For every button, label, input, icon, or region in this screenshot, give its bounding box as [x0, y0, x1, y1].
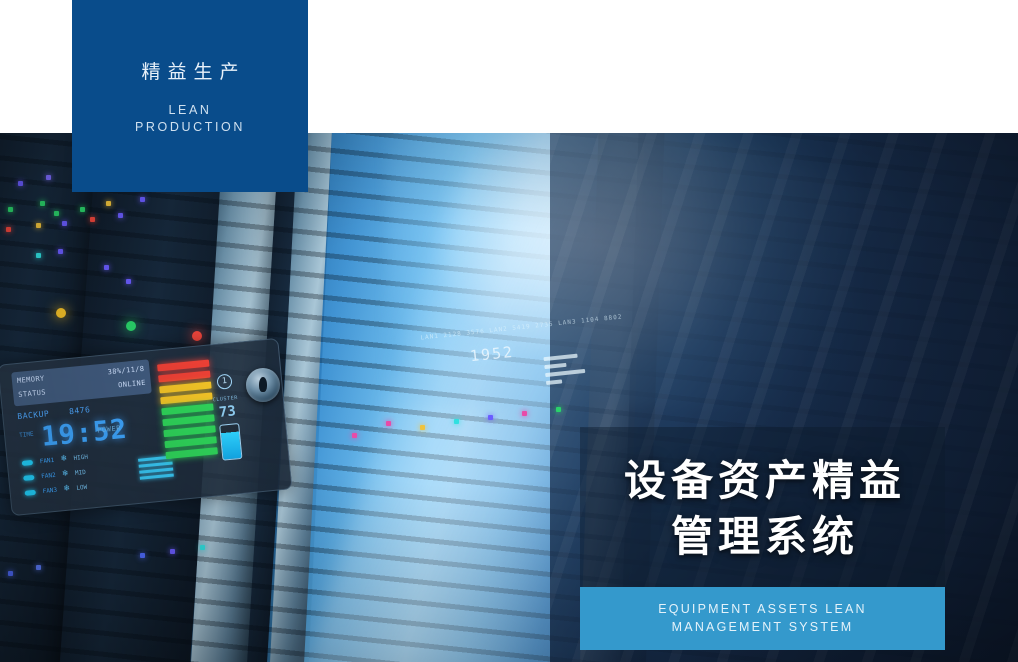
brand-title-en-line1: LEAN	[135, 102, 245, 119]
clock-display: 19:52	[40, 414, 129, 453]
fan-indicator-icon	[23, 475, 34, 481]
main-heading-line1: 设备资产精益	[580, 453, 945, 509]
cluster-index-badge: 1	[216, 373, 232, 389]
fan-name: FAN1	[39, 453, 55, 469]
time-label: TIME	[19, 431, 34, 439]
brand-title-cn: 精益生产	[134, 57, 245, 84]
fan-indicator-icon	[25, 490, 36, 496]
fan-name: FAN2	[41, 468, 57, 484]
fan-blade-icon: ❄	[62, 467, 69, 482]
brand-title-en-line2: PRODUCTION	[135, 119, 245, 136]
lcd-status-value: ONLINE	[118, 376, 147, 393]
lcd-status-label: STATUS	[18, 385, 47, 402]
cluster-label: CLUSTER	[212, 395, 238, 403]
rack-door-lock-icon	[246, 368, 280, 402]
title-panel: 设备资产精益 管理系统 EQUIPMENT ASSETS LEAN MANAGE…	[580, 427, 945, 650]
fan-blade-icon: ❄	[63, 482, 70, 497]
slide-root: MEMORY 38%/11/8 STATUS ONLINE BACKUP 847…	[0, 0, 1018, 662]
server-control-panel: MEMORY 38%/11/8 STATUS ONLINE BACKUP 847…	[0, 338, 293, 516]
rack-bar-graphic	[543, 353, 586, 389]
brand-box: 精益生产 LEAN PRODUCTION	[72, 0, 308, 192]
fan-level: MID	[74, 465, 86, 481]
fan-blade-icon: ❄	[60, 452, 67, 467]
capacity-gauge	[219, 423, 242, 461]
fan-name: FAN3	[42, 483, 58, 499]
control-panel-lcd: MEMORY 38%/11/8 STATUS ONLINE	[11, 359, 152, 406]
title-dark-overlay: 设备资产精益 管理系统	[580, 427, 945, 587]
title-accent-bar: EQUIPMENT ASSETS LEAN MANAGEMENT SYSTEM	[580, 587, 945, 650]
led-level-ladder	[157, 360, 218, 464]
fan-level: LOW	[76, 480, 88, 496]
main-heading-line2: 管理系统	[580, 509, 945, 565]
brand-title-en: LEAN PRODUCTION	[135, 102, 245, 135]
subtitle-line2: MANAGEMENT SYSTEM	[580, 618, 945, 636]
fan-status-list: FAN1 ❄ HIGH FAN2 ❄ MID FAN3 ❄ LOW	[21, 450, 91, 501]
cluster-value: 73	[218, 403, 236, 421]
fan-level: HIGH	[73, 450, 89, 466]
fan-indicator-icon	[22, 460, 33, 466]
subtitle-line1: EQUIPMENT ASSETS LEAN	[580, 600, 945, 618]
backup-value: 8476	[69, 405, 91, 416]
backup-label: BACKUP	[17, 409, 50, 421]
